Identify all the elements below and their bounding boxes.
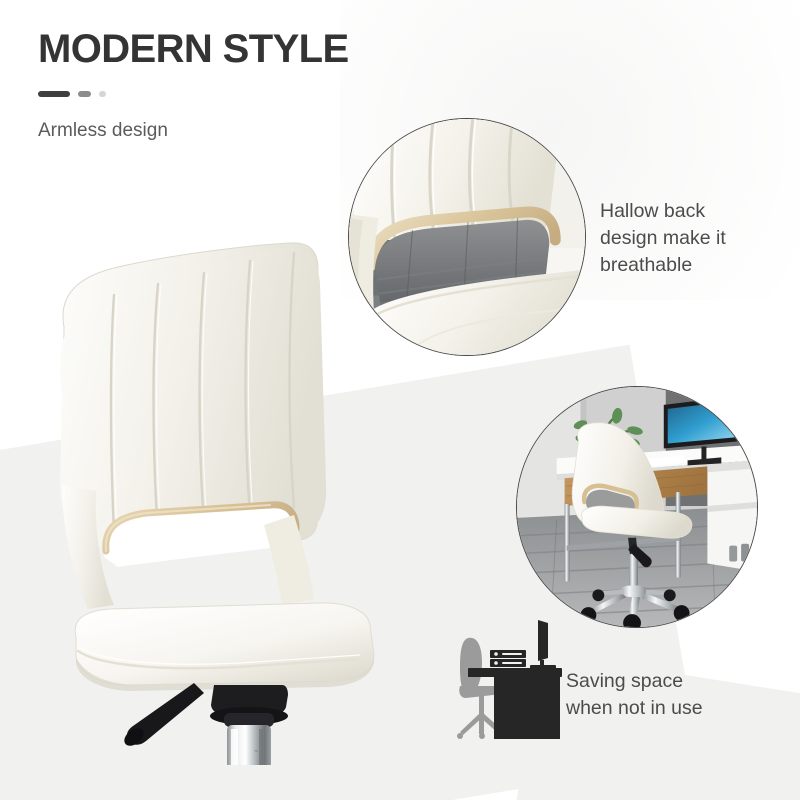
icon-monitor — [530, 620, 556, 669]
page-title: MODERN STYLE — [38, 28, 349, 70]
caption-line: Saving space — [566, 668, 796, 695]
caption-saving-space: Saving space when not in use — [566, 668, 796, 722]
rule-segment-short — [78, 91, 91, 97]
rule-segment-dot — [99, 91, 106, 97]
infographic-canvas: MODERN STYLE Armless design — [0, 0, 800, 800]
inset-hollow-back-closeup — [348, 118, 586, 356]
caption-line: Hallow back — [600, 198, 796, 225]
caption-hallow-back: Hallow back design make it breathable — [600, 198, 796, 279]
caption-line: design make it — [600, 225, 796, 252]
svg-text:⌁: ⌁ — [254, 748, 258, 755]
rule-segment-long — [38, 91, 70, 97]
caption-line: breathable — [600, 252, 796, 279]
chair-gas-collar — [224, 713, 274, 727]
chair-seat-cushion — [75, 603, 374, 685]
header-block: MODERN STYLE Armless design — [38, 28, 349, 142]
title-rule-decoration — [38, 90, 349, 98]
inset-room-scene — [516, 386, 758, 628]
chair-under-desk-icon — [452, 612, 570, 744]
caption-line: when not in use — [566, 695, 796, 722]
page-subtitle: Armless design — [38, 120, 349, 142]
